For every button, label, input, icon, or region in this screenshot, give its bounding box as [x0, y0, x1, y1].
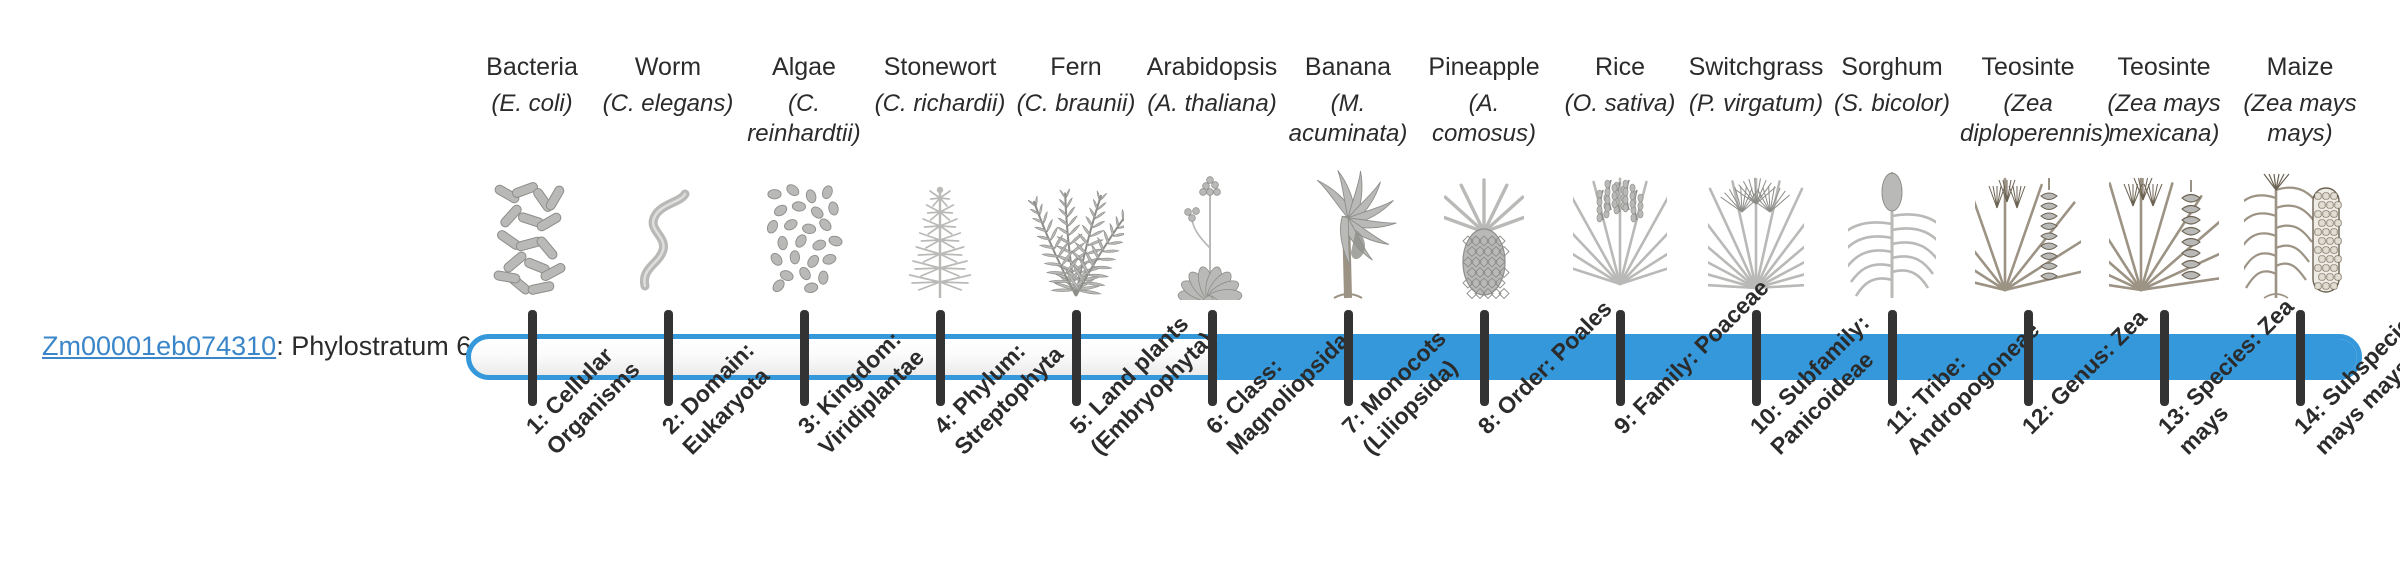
- species-header-5: Fern(C. braunii): [1008, 52, 1144, 119]
- species-header-7: Banana(M. acuminata): [1280, 52, 1416, 149]
- tick-mark-2: [664, 310, 673, 406]
- species-header-2: Worm(C. elegans): [600, 52, 736, 119]
- species-header-6: Arabidopsis(A. thaliana): [1144, 52, 1280, 119]
- species-scientific-name: (M. acuminata): [1280, 89, 1416, 149]
- gene-id-link[interactable]: Zm00001eb074310: [42, 331, 276, 361]
- species-common-name: Sorghum: [1824, 52, 1960, 83]
- species-header-10: Switchgrass(P. virgatum): [1688, 52, 1824, 119]
- species-common-name: Switchgrass: [1688, 52, 1824, 83]
- species-header-12: Teosinte(Zea diploperennis): [1960, 52, 2096, 149]
- tick-mark-1: [528, 310, 537, 406]
- species-scientific-name: (A. thaliana): [1144, 89, 1280, 119]
- species-scientific-name: (C. braunii): [1008, 89, 1144, 119]
- tick-mark-10: [1752, 310, 1761, 406]
- tick-mark-11: [1888, 310, 1897, 406]
- tick-mark-7: [1344, 310, 1353, 406]
- species-scientific-name: (Zea diploperennis): [1960, 89, 2096, 149]
- species-common-name: Bacteria: [464, 52, 600, 83]
- species-header-14: Maize(Zea mays mays): [2232, 52, 2368, 149]
- species-header-4: Stonewort(C. richardii): [872, 52, 1008, 119]
- species-header-9: Rice(O. sativa): [1552, 52, 1688, 119]
- species-header-13: Teosinte(Zea mays mexicana): [2096, 52, 2232, 149]
- species-scientific-name: (A. comosus): [1416, 89, 1552, 149]
- species-scientific-name: (C. reinhardtii): [736, 89, 872, 149]
- tick-mark-3: [800, 310, 809, 406]
- species-scientific-name: (C. elegans): [600, 89, 736, 119]
- species-common-name: Pineapple: [1416, 52, 1552, 83]
- tick-mark-5: [1072, 310, 1081, 406]
- gene-phylostratum-label: Zm00001eb074310: Phylostratum 6: [42, 330, 462, 362]
- tick-mark-13: [2160, 310, 2169, 406]
- species-header-1: Bacteria(E. coli): [464, 52, 600, 119]
- species-common-name: Rice: [1552, 52, 1688, 83]
- species-common-name: Worm: [600, 52, 736, 83]
- tick-mark-8: [1480, 310, 1489, 406]
- gene-label-separator: :: [276, 331, 291, 361]
- species-common-name: Teosinte: [1960, 52, 2096, 83]
- tick-mark-4: [936, 310, 945, 406]
- species-common-name: Fern: [1008, 52, 1144, 83]
- species-header-11: Sorghum(S. bicolor): [1824, 52, 1960, 119]
- phylostratum-figure: Zm00001eb074310: Phylostratum 6 Bacteria…: [0, 0, 2400, 580]
- bacteria-icon: [464, 160, 600, 300]
- species-scientific-name: (P. virgatum): [1688, 89, 1824, 119]
- tick-mark-12: [2024, 310, 2033, 406]
- species-common-name: Teosinte: [2096, 52, 2232, 83]
- species-scientific-name: (S. bicolor): [1824, 89, 1960, 119]
- species-header-3: Algae(C. reinhardtii): [736, 52, 872, 149]
- species-scientific-name: (C. richardii): [872, 89, 1008, 119]
- species-common-name: Maize: [2232, 52, 2368, 83]
- tick-mark-14: [2296, 310, 2305, 406]
- species-common-name: Banana: [1280, 52, 1416, 83]
- species-scientific-name: (E. coli): [464, 89, 600, 119]
- species-common-name: Arabidopsis: [1144, 52, 1280, 83]
- phylostratum-value-text: Phylostratum 6: [291, 331, 471, 361]
- tick-mark-6: [1208, 310, 1217, 406]
- species-common-name: Algae: [736, 52, 872, 83]
- species-common-name: Stonewort: [872, 52, 1008, 83]
- species-scientific-name: (O. sativa): [1552, 89, 1688, 119]
- species-scientific-name: (Zea mays mexicana): [2096, 89, 2232, 149]
- tick-mark-9: [1616, 310, 1625, 406]
- species-scientific-name: (Zea mays mays): [2232, 89, 2368, 149]
- species-header-8: Pineapple(A. comosus): [1416, 52, 1552, 149]
